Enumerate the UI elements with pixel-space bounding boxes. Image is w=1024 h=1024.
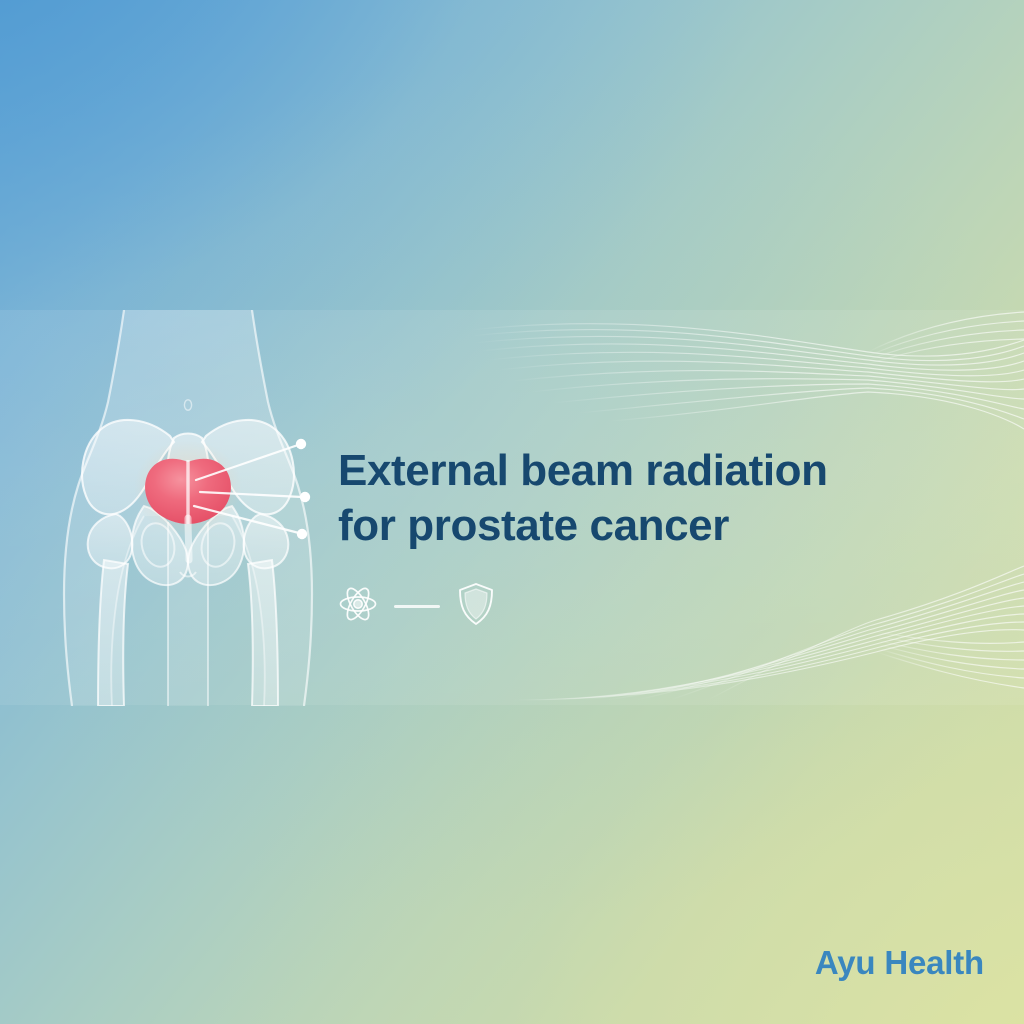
leader-dot-2: [300, 492, 310, 502]
shield-icon: [456, 582, 496, 631]
banner-canvas: External beam radiation for prostate can…: [0, 0, 1024, 1024]
headline-line-1: External beam radiation: [338, 446, 828, 495]
leader-dot-3: [297, 529, 307, 539]
atom-icon: [338, 584, 378, 629]
brand-logo: Ayu Health: [815, 944, 984, 982]
pelvis-anatomy-illustration: [28, 310, 348, 706]
connector-line: [394, 605, 440, 608]
headline-line-2: for prostate cancer: [338, 498, 938, 553]
headline: External beam radiation for prostate can…: [338, 443, 938, 553]
icon-row: [338, 582, 496, 631]
leader-dot-1: [296, 439, 306, 449]
